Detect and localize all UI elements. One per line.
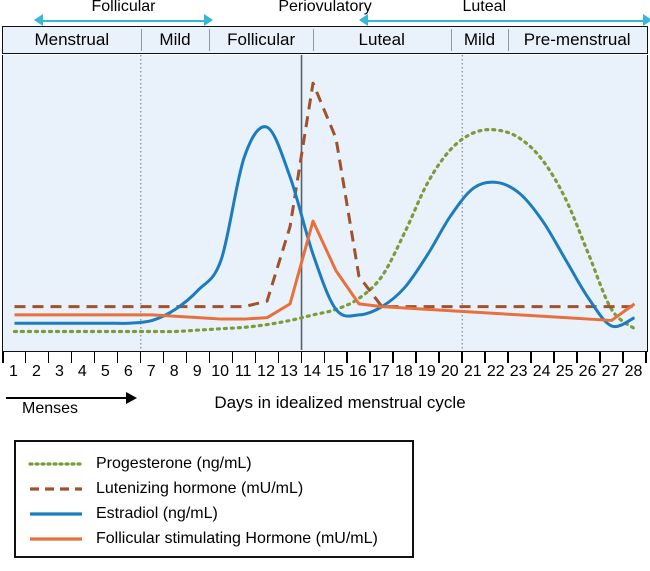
day-label-4: 4 [71, 362, 94, 382]
chart-legend: Progesterone (ng/mL)Lutenizing hormone (… [14, 440, 414, 558]
day-label-3: 3 [48, 362, 71, 382]
day-label-27: 27 [599, 362, 622, 382]
menses-label: Menses [22, 400, 78, 418]
legend-item-2[interactable]: Estradiol (ng/mL) [28, 502, 218, 526]
hormone-curves-svg [3, 55, 646, 350]
day-label-10: 10 [209, 362, 232, 382]
menses-arrow-head-icon [126, 392, 137, 404]
legend-item-1[interactable]: Lutenizing hormone (mU/mL) [28, 477, 303, 501]
day-label-16: 16 [346, 362, 369, 382]
plot-area [2, 55, 648, 352]
day-label-8: 8 [163, 362, 186, 382]
phase-top-label-periovulatory: Periovulatory [245, 0, 405, 16]
day-label-19: 19 [415, 362, 438, 382]
legend-label: Progesterone (ng/mL) [96, 455, 252, 473]
phase-band-divider [209, 29, 210, 51]
phase-band-divider [141, 29, 142, 51]
day-label-23: 23 [507, 362, 530, 382]
legend-swatch-icon [28, 532, 84, 546]
day-label-13: 13 [278, 362, 301, 382]
phase-band-divider [451, 29, 452, 51]
day-label-24: 24 [530, 362, 553, 382]
phase-name-band: MenstrualMildFollicularLutealMildPre-men… [2, 26, 648, 54]
day-label-7: 7 [140, 362, 163, 382]
legend-item-0[interactable]: Progesterone (ng/mL) [28, 452, 252, 476]
day-label-22: 22 [484, 362, 507, 382]
day-label-6: 6 [117, 362, 140, 382]
phase-band-divider [508, 29, 509, 51]
phase-band-divider [313, 29, 314, 51]
day-label-9: 9 [186, 362, 209, 382]
day-label-11: 11 [232, 362, 255, 382]
legend-swatch-icon [28, 482, 84, 496]
legend-label: Follicular stimulating Hormone (mU/mL) [96, 530, 378, 548]
phase-band-cell-2: Follicular [209, 27, 313, 53]
phase-arrow-row: FollicularPeriovulatoryLuteal [0, 0, 650, 28]
day-label-14: 14 [301, 362, 324, 382]
phase-band-cell-0: Menstrual [3, 27, 141, 53]
legend-label: Estradiol (ng/mL) [96, 505, 218, 523]
x-axis-day-labels: 1234567891011121314151617181920212223242… [0, 362, 650, 386]
day-label-2: 2 [25, 362, 48, 382]
day-label-28: 28 [622, 362, 645, 382]
day-label-20: 20 [438, 362, 461, 382]
phase-band-cell-5: Pre-menstrual [508, 27, 646, 53]
arrow-left-icon [359, 14, 368, 26]
phase-band-cell-1: Mild [141, 27, 210, 53]
x-axis-title: Days in idealized menstrual cycle [180, 393, 500, 413]
phase-band-cell-3: Luteal [313, 27, 451, 53]
arrow-right-icon [643, 14, 650, 26]
phase-arrow-line-luteal [367, 20, 643, 22]
legend-swatch-icon [28, 457, 84, 471]
day-label-25: 25 [553, 362, 576, 382]
chart-root: FollicularPeriovulatoryLuteal MenstrualM… [0, 0, 650, 571]
day-label-15: 15 [324, 362, 347, 382]
arrow-left-icon [34, 14, 43, 26]
day-label-1: 1 [2, 362, 25, 382]
phase-arrow-line-follicular [42, 20, 205, 22]
phase-top-label-luteal: Luteal [404, 0, 564, 16]
day-label-5: 5 [94, 362, 117, 382]
arrow-right-icon [204, 14, 213, 26]
phase-band-cell-4: Mild [451, 27, 509, 53]
series-line-lutenizing [14, 83, 634, 307]
day-label-26: 26 [576, 362, 599, 382]
day-label-17: 17 [369, 362, 392, 382]
day-label-12: 12 [255, 362, 278, 382]
day-label-21: 21 [461, 362, 484, 382]
legend-swatch-icon [28, 507, 84, 521]
phase-top-label-follicular: Follicular [44, 0, 204, 16]
legend-label: Lutenizing hormone (mU/mL) [96, 480, 303, 498]
day-label-18: 18 [392, 362, 415, 382]
legend-item-3[interactable]: Follicular stimulating Hormone (mU/mL) [28, 527, 378, 551]
series-line-progesterone [14, 130, 634, 332]
menses-arrow-line [6, 397, 128, 399]
